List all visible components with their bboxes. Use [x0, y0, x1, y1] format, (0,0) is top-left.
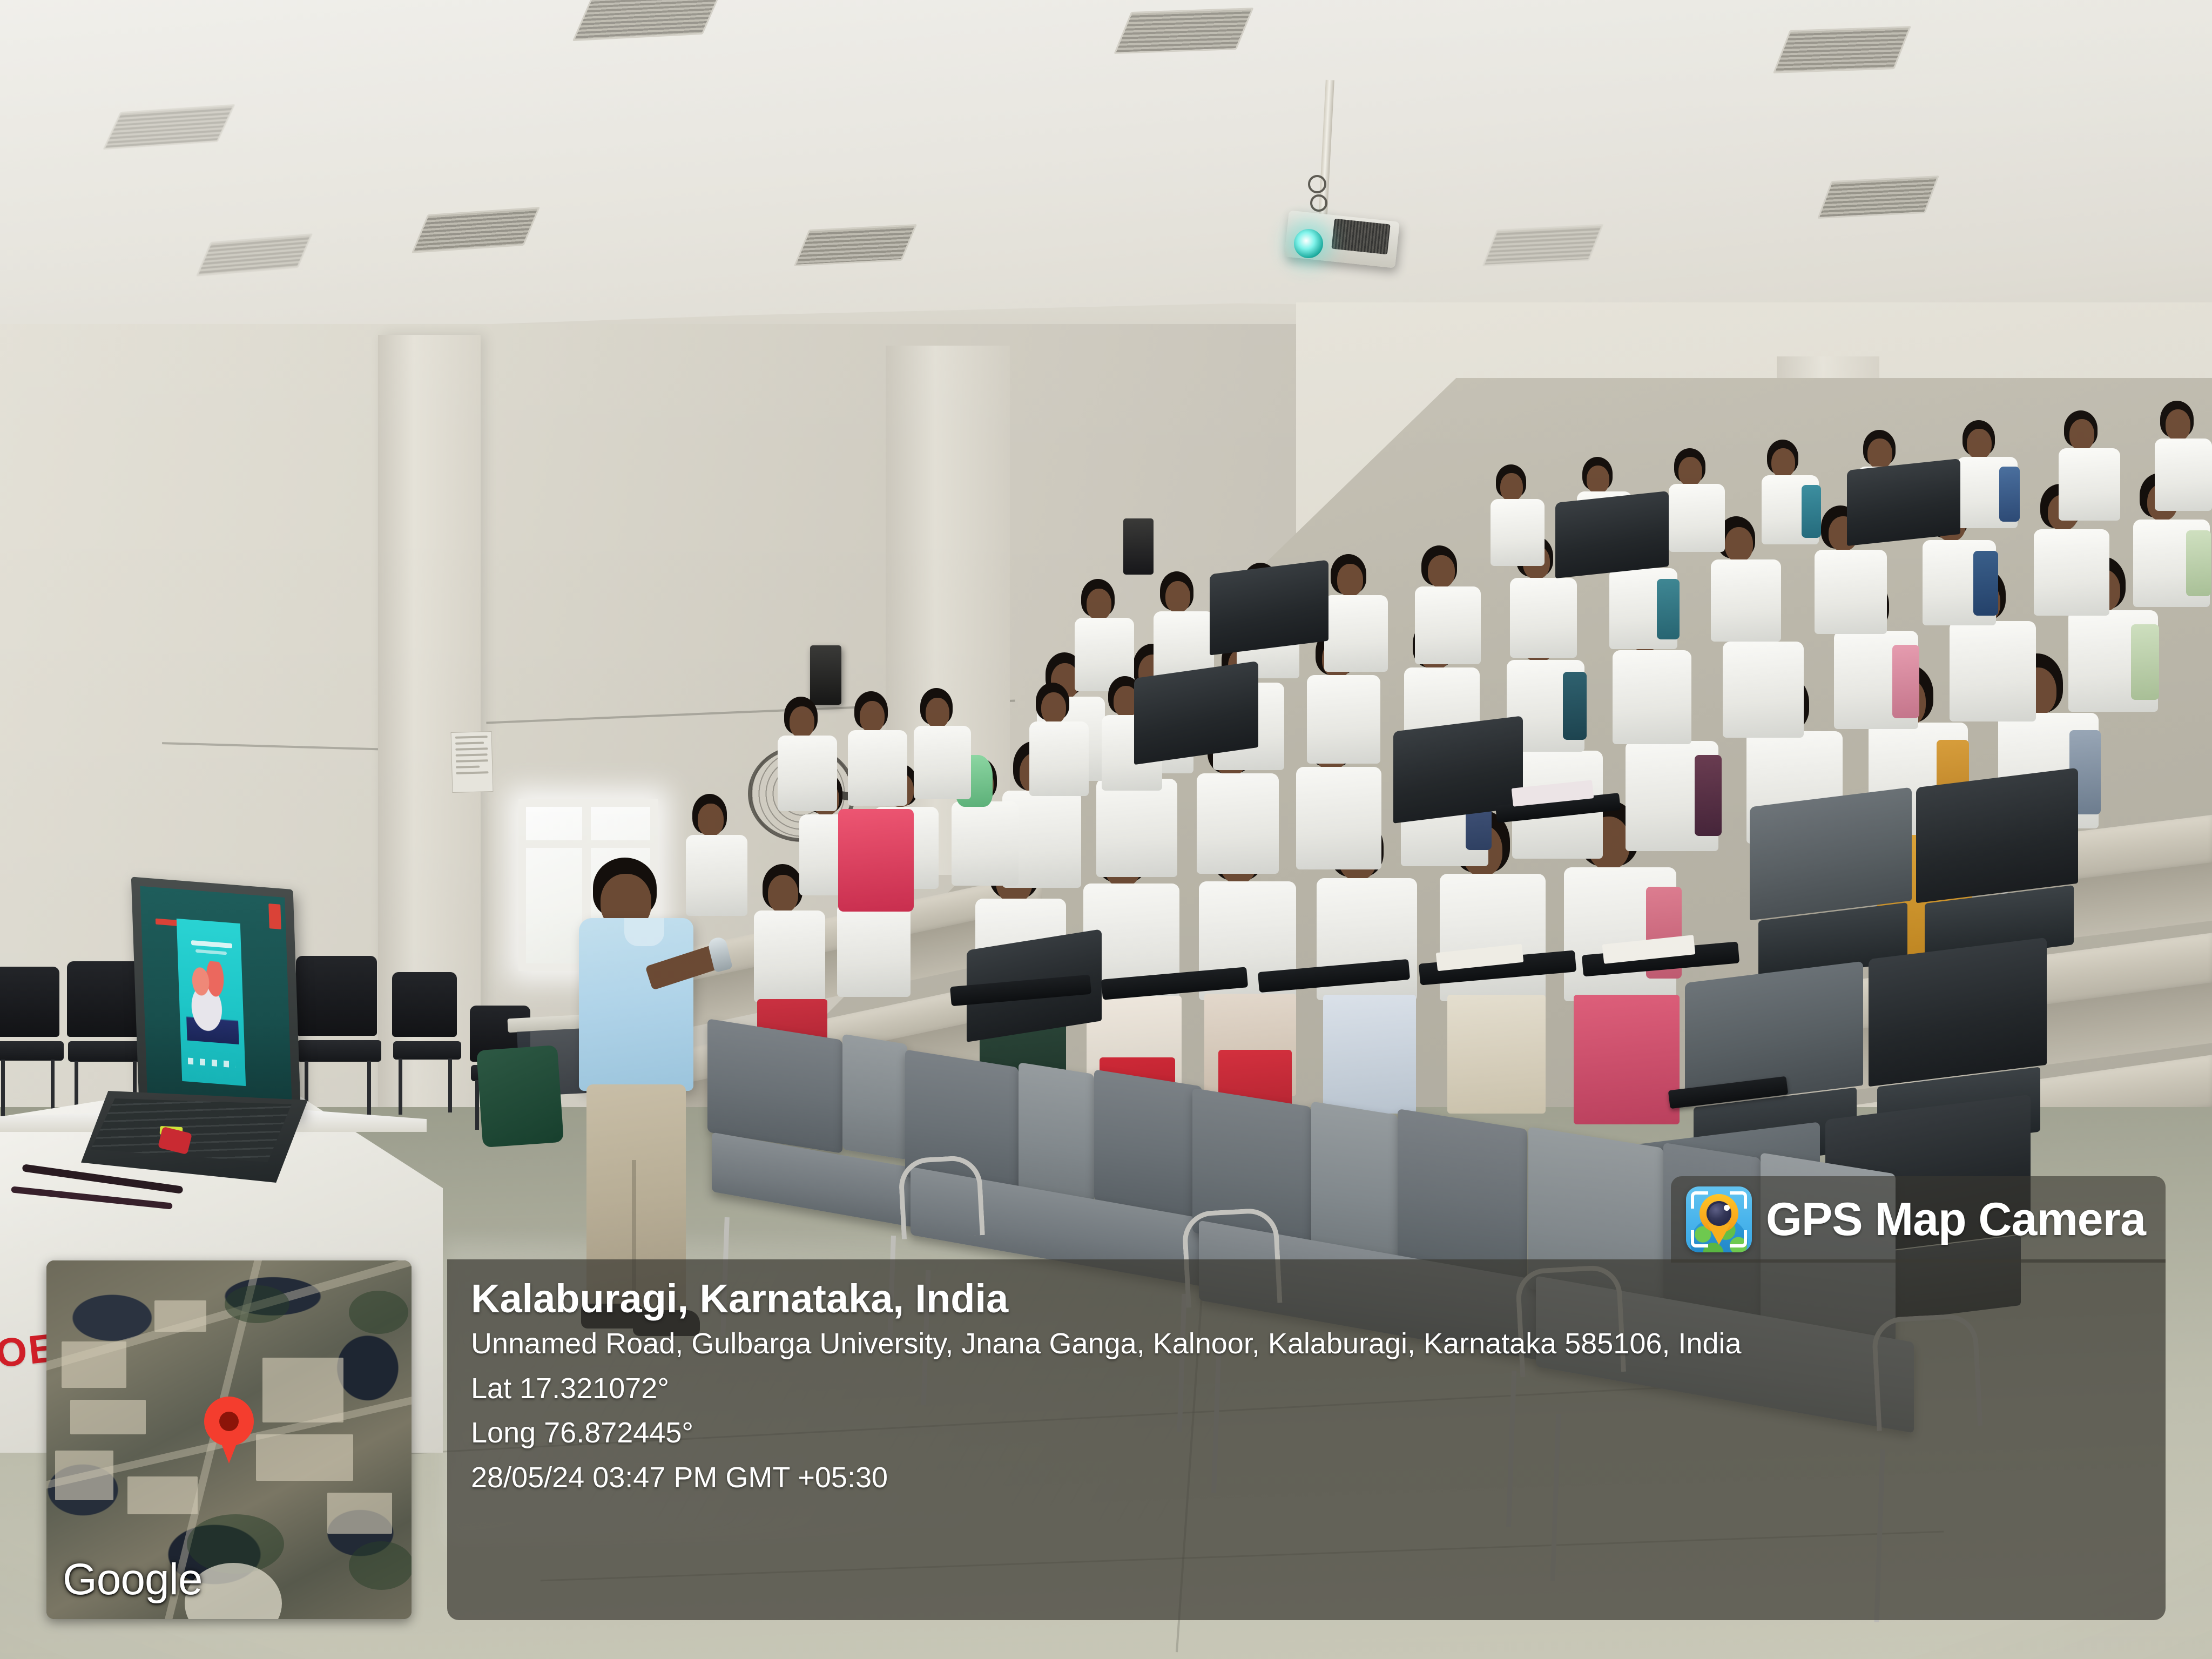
gps-map-camera-branding-bar: GPS Map Camera — [1671, 1176, 2166, 1263]
map-building — [262, 1358, 343, 1422]
map-building — [55, 1451, 113, 1500]
gps-location-title: Kalaburagi, Karnataka, India — [471, 1278, 2166, 1320]
ac-vent-grille — [1114, 8, 1253, 54]
map-thumbnail[interactable]: Google — [46, 1260, 412, 1619]
slide-photo — [184, 959, 239, 1044]
map-tree-cluster — [225, 1285, 289, 1323]
google-watermark: Google — [63, 1554, 202, 1605]
map-tree-cluster — [349, 1541, 412, 1590]
map-building — [127, 1476, 198, 1514]
map-tree-cluster — [349, 1291, 408, 1334]
ac-vent-grille — [1817, 176, 1939, 219]
projector-grille — [1331, 219, 1390, 255]
gps-longitude: Long 76.872445° — [471, 1417, 2166, 1449]
ac-vent-grille — [1773, 26, 1911, 73]
cable-ring — [1308, 175, 1326, 193]
map-building — [70, 1400, 146, 1434]
photo-canvas: OE GPS Map Camera Kalaburagi, Karnataka,… — [0, 0, 2212, 1659]
ac-vent-grille — [1482, 224, 1604, 266]
map-building — [256, 1434, 353, 1481]
slide-accent-bar — [268, 903, 281, 929]
gps-brand-label: GPS Map Camera — [1766, 1193, 2146, 1246]
map-location-pin — [204, 1397, 254, 1446]
presenter-collar — [624, 918, 664, 946]
wall-speaker — [1123, 518, 1154, 575]
cable-ring — [1310, 194, 1327, 212]
gps-timestamp: 28/05/24 03:47 PM GMT +05:30 — [471, 1461, 2166, 1494]
gps-address: Unnamed Road, Gulbarga University, Jnana… — [471, 1327, 2166, 1360]
handwritten-note — [451, 731, 494, 793]
map-building — [62, 1341, 126, 1388]
map-building — [154, 1300, 206, 1332]
ac-vent-grille — [794, 224, 918, 266]
gps-info-panel: Kalaburagi, Karnataka, India Unnamed Roa… — [447, 1259, 2166, 1620]
wall-speaker — [810, 645, 841, 705]
gps-latitude: Lat 17.321072° — [471, 1372, 2166, 1405]
map-building — [327, 1493, 392, 1534]
gps-map-camera-icon — [1686, 1186, 1752, 1252]
bag — [476, 1045, 564, 1148]
projector-lens — [1294, 229, 1323, 258]
